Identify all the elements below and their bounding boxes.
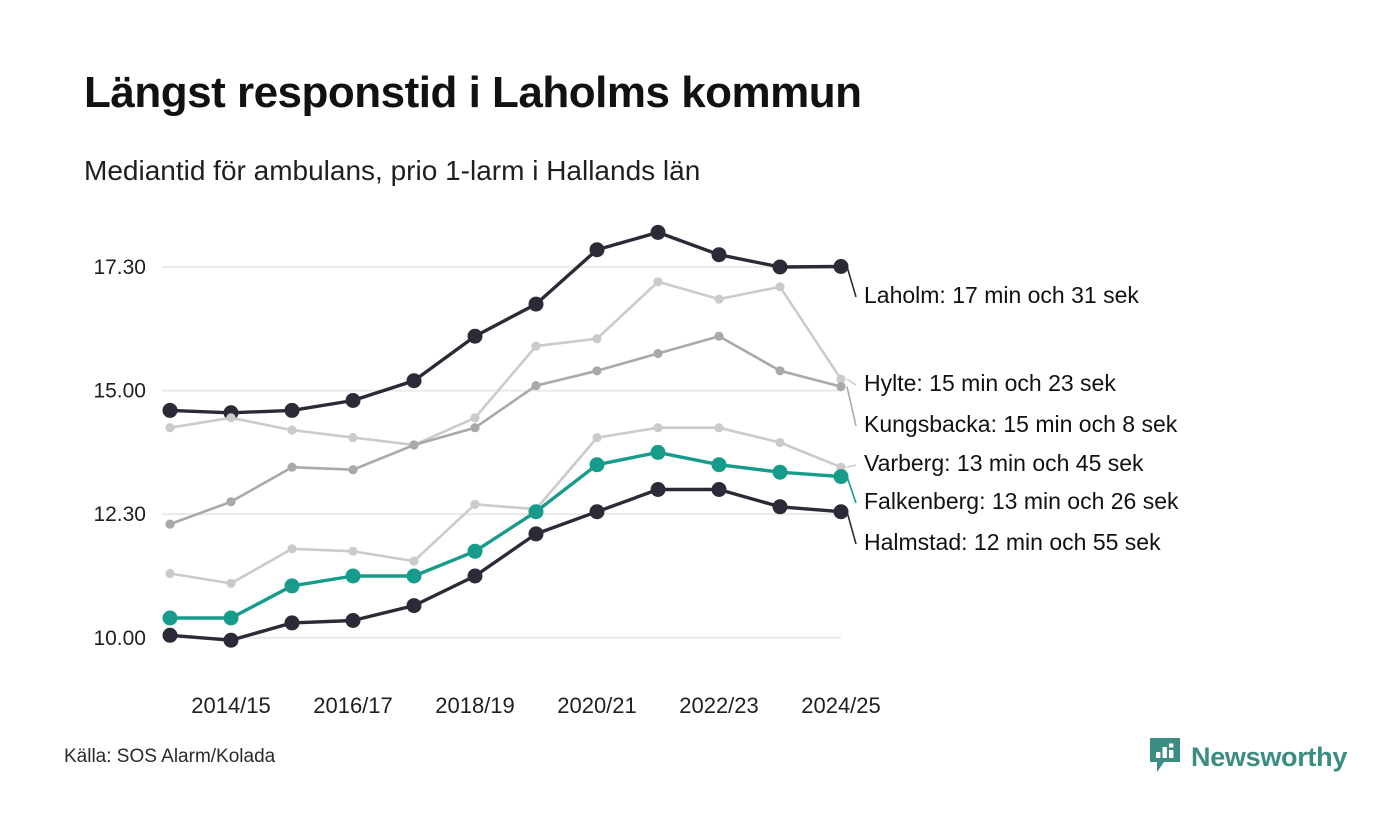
x-axis-tick-label: 2024/25 <box>801 693 881 718</box>
source-note: Källa: SOS Alarm/Kolada <box>64 746 275 768</box>
data-point <box>653 349 662 358</box>
data-point <box>712 457 727 472</box>
data-point <box>409 440 418 449</box>
data-point <box>226 497 235 506</box>
line-chart: 17.3015.0012.3010.002014/152016/172018/1… <box>0 0 1400 730</box>
data-point <box>348 547 357 556</box>
data-point <box>224 633 239 648</box>
data-point <box>287 544 296 553</box>
data-point <box>226 413 235 422</box>
series-label-leader <box>847 267 856 298</box>
series-label: Kungsbacka: 15 min och 8 sek <box>864 411 1178 437</box>
x-axis-tick-label: 2016/17 <box>313 693 393 718</box>
data-point <box>407 569 422 584</box>
x-axis-tick-label: 2014/15 <box>191 693 271 718</box>
data-point <box>346 569 361 584</box>
data-point <box>407 373 422 388</box>
data-point <box>468 544 483 559</box>
data-point <box>163 611 178 626</box>
data-point <box>714 295 723 304</box>
data-point <box>165 569 174 578</box>
data-point <box>651 225 666 240</box>
newsworthy-bar-chart-bubble-icon <box>1148 736 1182 779</box>
series-line <box>170 232 841 412</box>
data-point <box>836 382 845 391</box>
series-line <box>170 428 841 584</box>
data-point <box>775 282 784 291</box>
series-label: Halmstad: 12 min och 55 sek <box>864 529 1161 555</box>
data-point <box>470 500 479 509</box>
series-label: Laholm: 17 min och 31 sek <box>864 282 1139 308</box>
data-point <box>529 297 544 312</box>
data-point <box>592 334 601 343</box>
data-point <box>224 611 239 626</box>
data-point <box>590 457 605 472</box>
data-point <box>653 277 662 286</box>
data-point <box>712 247 727 262</box>
newsworthy-logo-text: Newsworthy <box>1191 742 1347 773</box>
data-point <box>348 465 357 474</box>
x-axis-tick-label: 2020/21 <box>557 693 637 718</box>
data-point <box>407 598 422 613</box>
data-point <box>834 469 849 484</box>
data-point <box>346 613 361 628</box>
data-point <box>165 423 174 432</box>
series-label-leader <box>847 379 856 385</box>
data-point <box>285 578 300 593</box>
data-point <box>651 445 666 460</box>
data-point <box>775 438 784 447</box>
data-point <box>470 423 479 432</box>
data-point <box>468 329 483 344</box>
data-point <box>409 557 418 566</box>
data-point <box>468 569 483 584</box>
chart-page: Längst responstid i Laholms kommun Media… <box>0 0 1400 840</box>
data-point <box>531 381 540 390</box>
data-point <box>529 504 544 519</box>
data-point <box>653 423 662 432</box>
data-point <box>773 499 788 514</box>
data-point <box>226 579 235 588</box>
data-point <box>590 504 605 519</box>
series-label-leader <box>847 512 856 544</box>
data-point <box>773 465 788 480</box>
y-axis-tick-label: 12.30 <box>93 503 146 526</box>
series-label: Falkenberg: 13 min och 26 sek <box>864 488 1179 514</box>
data-point <box>651 482 666 497</box>
data-point <box>590 242 605 257</box>
data-point <box>287 426 296 435</box>
data-point <box>163 628 178 643</box>
data-point <box>285 403 300 418</box>
data-point <box>531 342 540 351</box>
data-point <box>592 433 601 442</box>
newsworthy-logo: Newsworthy <box>1148 736 1347 779</box>
data-point <box>348 433 357 442</box>
data-point <box>714 423 723 432</box>
data-point <box>592 366 601 375</box>
data-point <box>287 463 296 472</box>
data-point <box>712 482 727 497</box>
data-point <box>346 393 361 408</box>
series-label: Hylte: 15 min och 23 sek <box>864 370 1116 396</box>
series-label: Varberg: 13 min och 45 sek <box>864 450 1144 476</box>
series-label-leader <box>847 465 856 467</box>
data-point <box>714 332 723 341</box>
series-label-leader <box>847 477 856 503</box>
y-axis-tick-label: 17.30 <box>93 256 146 279</box>
data-point <box>834 504 849 519</box>
data-point <box>163 403 178 418</box>
data-point <box>529 526 544 541</box>
series-line <box>170 452 841 618</box>
data-point <box>470 413 479 422</box>
data-point <box>285 615 300 630</box>
data-point <box>165 520 174 529</box>
data-point <box>773 260 788 275</box>
y-axis-tick-label: 10.00 <box>93 627 146 650</box>
x-axis-tick-label: 2018/19 <box>435 693 515 718</box>
y-axis-tick-label: 15.00 <box>93 380 146 403</box>
series-line <box>170 490 841 641</box>
data-point <box>834 259 849 274</box>
x-axis-tick-label: 2022/23 <box>679 693 759 718</box>
series-label-leader <box>847 387 856 426</box>
series-line <box>170 282 841 445</box>
data-point <box>775 366 784 375</box>
